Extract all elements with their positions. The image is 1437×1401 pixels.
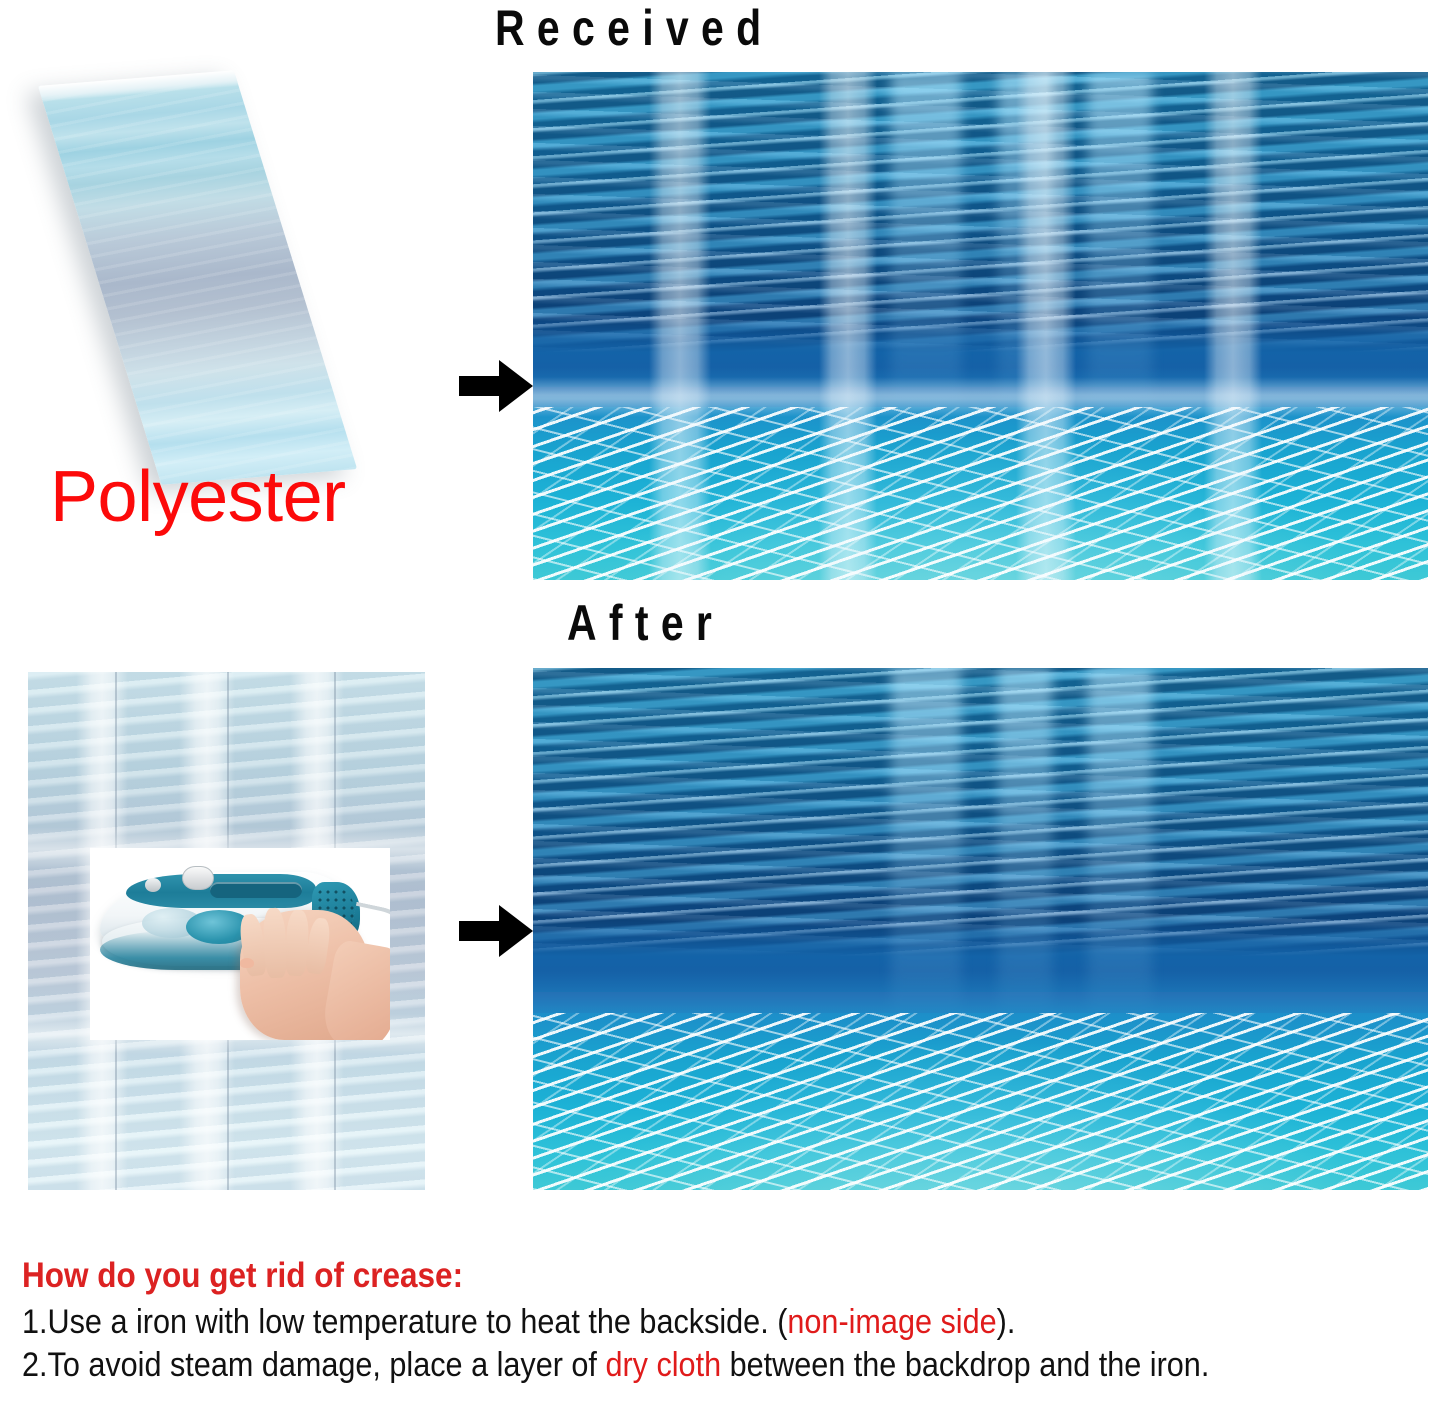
steam-iron-photo [90,848,390,1040]
care-step-2-highlight: dry cloth [605,1346,721,1384]
iron-temperature-knob [182,866,214,890]
sea-floor-layer [533,407,1428,580]
fingernail [240,958,254,968]
floor-fade [533,367,1428,408]
polyester-material-label: Polyester [50,461,346,533]
right-arrow-icon-after [459,903,533,959]
sea-floor-layer [533,1013,1428,1190]
fabric-roll-shape [38,70,357,484]
care-step-1: 1.Use a iron with low temperature to hea… [22,1301,1282,1344]
care-step-1-part-1: Use a iron with low temperature to heat … [48,1303,788,1341]
care-step-2-part-3: between the backdrop and the iron. [721,1346,1209,1384]
after-backdrop-photo [533,668,1428,1190]
right-arrow-icon-received [459,358,533,414]
water-surface-layer [533,72,1428,356]
care-step-1-number: 1. [22,1303,48,1341]
floor-fade [533,971,1428,1013]
care-step-2-part-1: To avoid steam damage, place a layer of [48,1346,606,1384]
care-step-2: 2.To avoid steam damage, place a layer o… [22,1344,1282,1387]
water-surface-layer [533,668,1428,960]
care-step-1-highlight: non-image side [787,1303,996,1341]
rolled-polyester-fabric-image [10,78,430,498]
care-step-1-part-3: ). [997,1303,1016,1341]
received-section-title: Received [495,3,773,53]
care-heading: How do you get rid of crease: [22,1256,1282,1295]
care-instructions-block: How do you get rid of crease: 1.Use a ir… [22,1256,1422,1386]
iron-spray-button [145,878,161,892]
iron-vent-slot [210,882,302,898]
received-backdrop-photo [533,72,1428,580]
infographic-canvas: Received Polyester After [0,0,1437,1401]
care-step-2-number: 2. [22,1346,48,1384]
after-section-title: After [567,598,724,648]
